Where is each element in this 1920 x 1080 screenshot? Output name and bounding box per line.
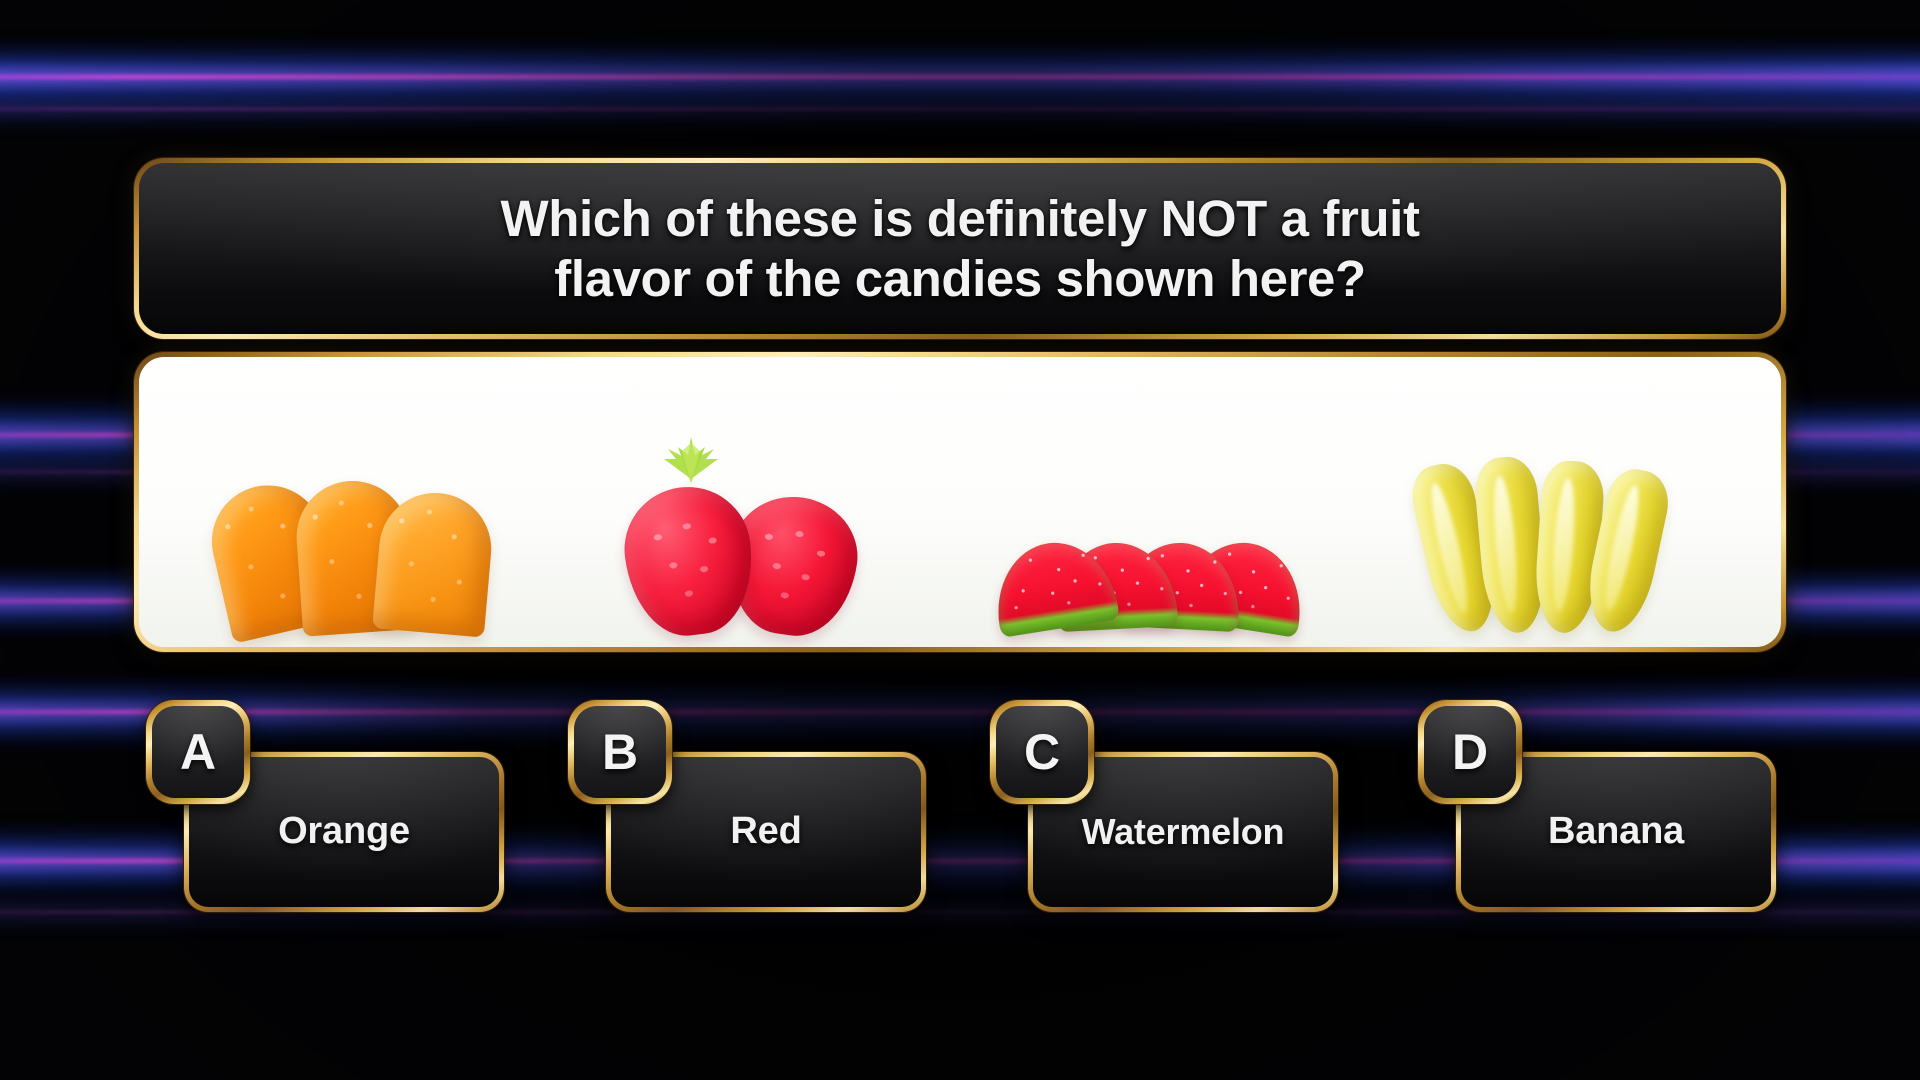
answer-option-d[interactable]: Banana D	[1406, 700, 1776, 930]
answer-letter-b: B	[602, 727, 638, 777]
answer-letter-badge-c[interactable]: C	[990, 700, 1094, 804]
strawberry-leaf-icon	[648, 433, 734, 483]
answer-option-c[interactable]: Watermelon C	[978, 700, 1348, 930]
answer-letter-badge-a[interactable]: A	[146, 700, 250, 804]
answer-label-c: Watermelon	[1082, 813, 1285, 851]
quiz-screen: Which of these is definitely NOT a fruit…	[0, 0, 1920, 1080]
question-text: Which of these is definitely NOT a fruit…	[460, 189, 1459, 307]
strawberry-gummy-icon	[618, 480, 761, 642]
answer-letter-a: A	[180, 727, 216, 777]
answer-label-b: Red	[730, 812, 801, 852]
neon-streak-top	[0, 40, 1920, 114]
answer-letter-badge-d[interactable]: D	[1418, 700, 1522, 804]
candy-image-panel	[134, 352, 1786, 652]
candy-orange-slice-gummies	[165, 357, 563, 639]
answer-label-a: Orange	[278, 812, 410, 852]
answer-letter-d: D	[1452, 727, 1488, 777]
answer-option-b[interactable]: Red B	[556, 700, 926, 930]
answer-letter-badge-b[interactable]: B	[568, 700, 672, 804]
answer-option-a[interactable]: Orange A	[134, 700, 504, 930]
candy-banana-gummies	[1358, 357, 1756, 639]
answers-row: Orange A Red B	[134, 700, 1786, 930]
answer-letter-c: C	[1024, 727, 1060, 777]
candy-watermelon-wedges	[960, 357, 1358, 639]
candy-strawberry-gummies	[563, 357, 961, 639]
neon-streak-top-secondary	[0, 86, 1920, 132]
answer-label-d: Banana	[1548, 812, 1684, 852]
question-panel: Which of these is definitely NOT a fruit…	[134, 158, 1786, 339]
